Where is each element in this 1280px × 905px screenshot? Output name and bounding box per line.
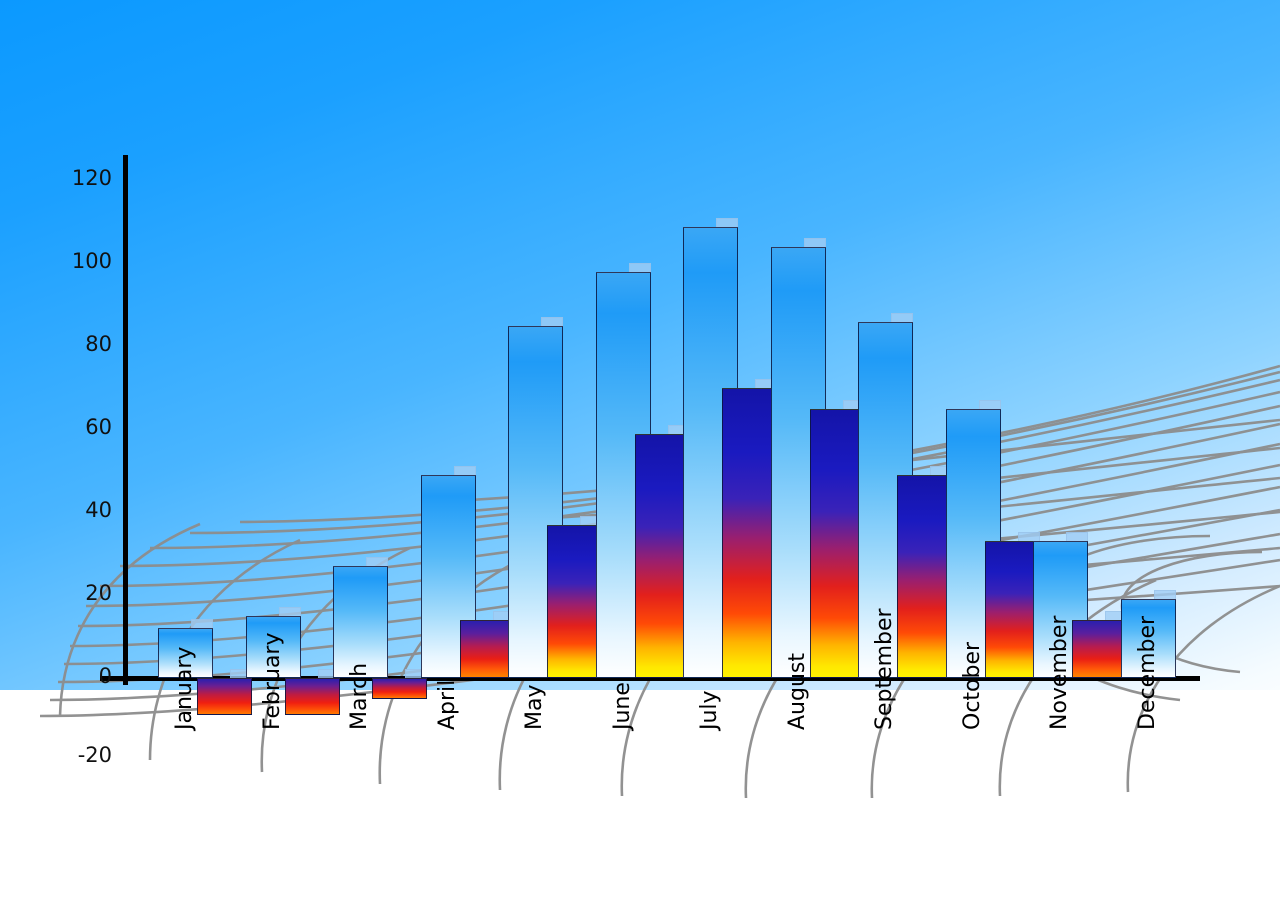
y-tick-0: 0 [99,666,112,687]
bar-front-face [547,525,602,678]
x-label-january: January [174,647,196,730]
bar-front-face [722,388,777,678]
bar-series2-august [810,409,865,678]
x-label-december: December [1137,616,1159,730]
bar-series2-september [897,475,952,678]
bar-front-face [1072,620,1127,678]
y-tick-40: 40 [85,500,112,521]
x-label-may: May [524,685,546,730]
y-axis-line [123,155,128,685]
bar-front-face [985,541,1040,678]
bar-series2-january [197,678,252,715]
bar-series2-october [985,541,1040,678]
x-label-march: March [349,663,371,730]
bar-front-face [460,620,515,678]
chart-canvas: 120 100 80 60 40 20 0 -20 JanuaryFebruar… [0,0,1280,905]
y-tick-120: 120 [72,168,112,189]
x-label-april: April [437,680,459,730]
x-label-june: June [612,682,634,730]
bar-front-face [372,678,427,699]
x-label-august: August [787,653,809,730]
bar-front-face [285,678,340,715]
y-tick-60: 60 [85,417,112,438]
bar-front-face [333,566,388,678]
x-label-september: September [874,608,896,730]
bar-series2-may [547,525,602,678]
bar-series2-april [460,620,515,678]
bar-front-face [810,409,865,678]
y-tick-20: 20 [85,583,112,604]
bar-front-face [635,434,690,678]
bar-series2-february [285,678,340,715]
bar-front-face [897,475,952,678]
bar-series2-november [1072,620,1127,678]
x-label-november: November [1049,616,1071,730]
x-label-february: February [262,633,284,731]
y-tick-100: 100 [72,251,112,272]
y-tick-neg20: -20 [78,745,112,766]
bar-series2-july [722,388,777,678]
x-label-july: July [699,690,721,730]
bar-series1-march [333,566,388,678]
bar-series2-march [372,678,427,699]
bar-series2-june [635,434,690,678]
bar-front-face [197,678,252,715]
y-tick-80: 80 [85,334,112,355]
x-label-october: October [962,642,984,730]
